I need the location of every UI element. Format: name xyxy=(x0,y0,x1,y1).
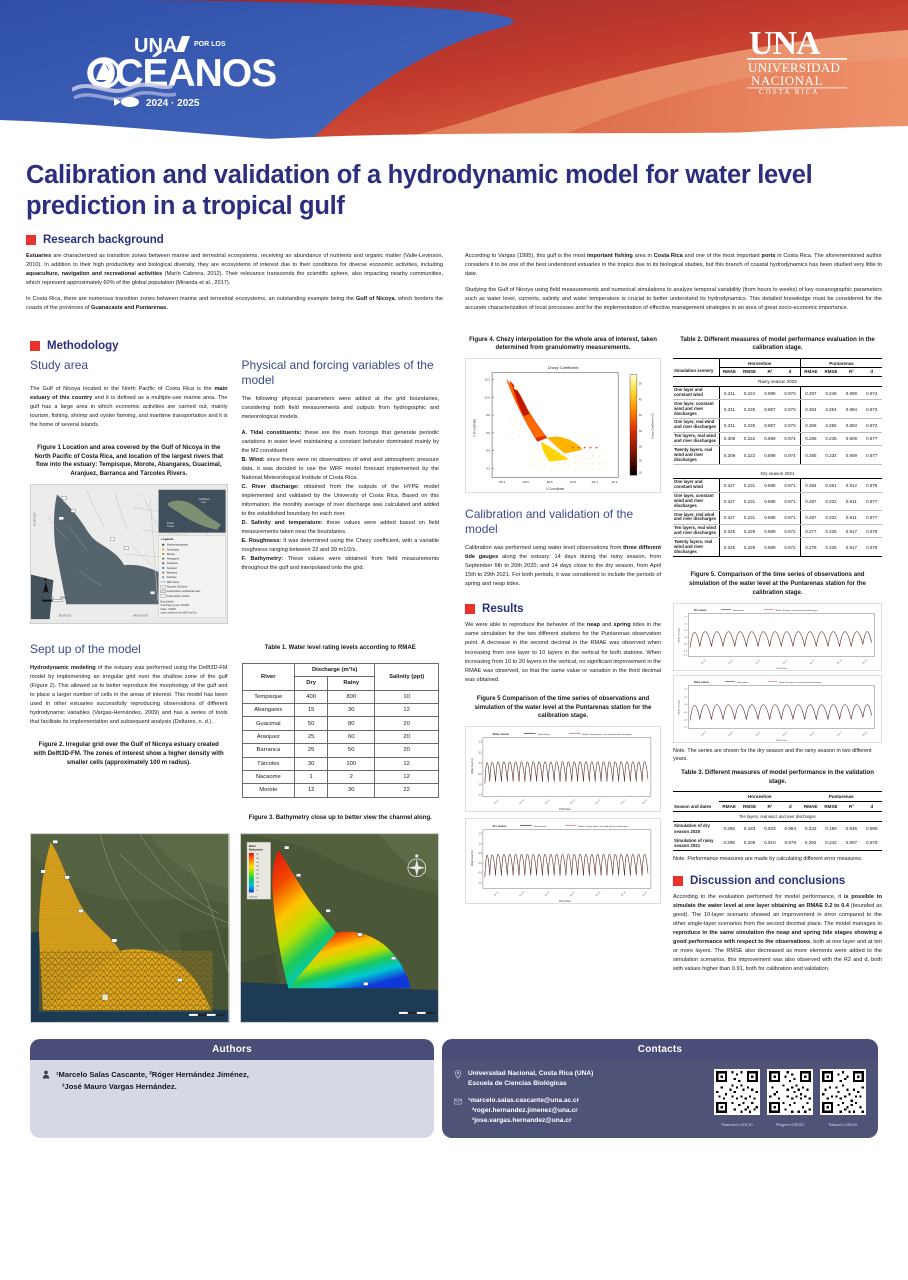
subheading-physical-variables: Physical and forcing variables of the mo… xyxy=(242,358,440,388)
t2-cell: 0.911 xyxy=(841,511,861,525)
physical-var-item-a: A. Tidal constituents: these are the mai… xyxy=(242,429,440,456)
research-background-col-1: Estuaries are characterized as transitio… xyxy=(26,252,443,320)
section-header-research-background: Research background xyxy=(26,234,882,246)
figure4-caption: Figure 4. Chezy interpolation for the wh… xyxy=(467,336,659,354)
svg-text:-85.0: -85.0 xyxy=(522,480,529,484)
right-subcol-a: Figure 4. Chezy interpolation for the wh… xyxy=(465,330,661,982)
oceanos-logo-art: UNA POR LOS OCÉANOS 2024 · 2025 xyxy=(72,28,302,114)
t2-row-label: Twenty layers, real wind and river disch… xyxy=(673,446,719,465)
affiliation-block: Universidad Nacional, Costa Rica (UNA) E… xyxy=(454,1069,704,1089)
table2-season-rainy: Rainy season 2020 xyxy=(673,376,882,386)
t3-cell: 0.985 xyxy=(862,821,882,836)
svg-text:Tárcoles: Tárcoles xyxy=(167,576,177,579)
t2-cell: 0.972 xyxy=(780,538,800,557)
t3-group-puntarenas: Puntarenas xyxy=(800,792,882,802)
physical-var-item-d: D. Salinity and temperature: these value… xyxy=(242,519,440,537)
f5b-legend-obs: Observations xyxy=(538,733,551,736)
t3-cell: 0.979 xyxy=(780,836,800,851)
t2-m-rmse-h: RMSE xyxy=(739,367,759,376)
table-row: Simulation of dry season 2020 0.2550.183… xyxy=(673,821,882,836)
svg-text:35: 35 xyxy=(639,429,643,433)
t2-cell: 0.897 xyxy=(760,400,780,419)
t3-cell: 0.910 xyxy=(760,836,780,851)
bg-lead-estuaries: Estuaries xyxy=(26,253,51,259)
discussion-paragraph: According to the evaluation performed fo… xyxy=(673,893,882,974)
physical-var-item-c: C. River discharge: obtained from the ou… xyxy=(242,483,440,519)
svg-text:Barranca: Barranca xyxy=(167,572,178,575)
svg-text:Tempisque: Tempisque xyxy=(167,548,180,551)
t3-m-rmse-h: RMSE xyxy=(739,801,759,811)
background-paragraph-2: In Costa Rica, there are numerous transi… xyxy=(26,295,443,313)
bg-p1-text: are characterized as transition zones be… xyxy=(26,253,443,268)
t2-cell: 0.973 xyxy=(780,400,800,419)
section-title-discussion: Discussion and conclusions xyxy=(690,875,845,887)
t2-cell: 0.909 xyxy=(841,446,861,465)
t1-rainy: 2 xyxy=(328,770,375,783)
svg-text:9.4: 9.4 xyxy=(486,449,490,453)
table-row: One layer, real wind and river discharge… xyxy=(673,418,882,432)
t3-cell: 0.907 xyxy=(841,836,861,851)
study-area-paragraph: The Gulf of Nicoya located in the North … xyxy=(30,385,228,430)
t1-rainy: 30 xyxy=(328,704,375,717)
email-1[interactable]: ¹marcelo.salas.cascante@una.ac.cr xyxy=(468,1096,579,1106)
t1-dry: 30 xyxy=(295,757,328,770)
figure5-top-rainy-chart: Rainy season Observations Model: Ten lay… xyxy=(673,675,882,743)
t2-cell: 0.235 xyxy=(821,432,841,446)
authors-heading: Authors xyxy=(30,1039,434,1060)
right-subcol-b: Table 2. Different measures of model per… xyxy=(673,330,882,982)
t2-group-horseshoe: Horseshoe xyxy=(719,359,800,368)
f5d-legend-model: Model: Ten layers, real wind and river d… xyxy=(779,681,821,683)
svg-text:Monitoring stations: Monitoring stations xyxy=(167,544,189,547)
subheading-calibration: Calibration and validation of the model xyxy=(465,507,661,537)
t2-cell: 0.325 xyxy=(719,538,739,557)
f5c-legend-model: Model: Twenty layers, real wind and rive… xyxy=(579,825,628,828)
setup-text: of the estuary was performed using the D… xyxy=(30,665,228,725)
t2-cell: 0.971 xyxy=(780,478,800,492)
res-a: We were able to reproduce the behavior o… xyxy=(465,622,587,628)
table-row: Simulation of rainy season 2021 0.2950.2… xyxy=(673,836,882,851)
f5b-ylabel: Water level (m) xyxy=(471,758,474,774)
study-area-column: Study area The Gulf of Nicoya located in… xyxy=(30,358,228,625)
t2-cell: 0.909 xyxy=(841,432,861,446)
t2-row-label: One layer, constant wind and river disch… xyxy=(673,400,719,419)
t2-cell: 0.974 xyxy=(862,386,882,400)
svg-text:20: 20 xyxy=(639,470,643,474)
t2-cell: 0.974 xyxy=(780,432,800,446)
svg-text:Nicoya's Gulf area: Nicoya's Gulf area xyxy=(167,586,188,589)
svg-text:45: 45 xyxy=(639,398,643,402)
section-title-research-background: Research background xyxy=(43,234,164,246)
t3-m-d-p: d xyxy=(862,801,882,811)
t2-season2: Dry season 2021 xyxy=(673,464,882,478)
svg-text:-84.2: -84.2 xyxy=(611,480,618,484)
t1-river: Tempisque xyxy=(242,690,295,703)
fig1-xtick-2: 84°42'00.000" xyxy=(133,614,148,617)
t2-row-label: Twenty layers, real wind and river disch… xyxy=(673,538,719,557)
t2-cell: 0.285 xyxy=(800,446,820,465)
figure4-cbar-label: Chezy Coefficient (C) xyxy=(651,413,655,439)
bg-p3-b1: important fishing xyxy=(587,253,633,259)
t2-cell: 0.971 xyxy=(780,492,800,511)
table-row: One layer, constant wind and river disch… xyxy=(673,400,882,419)
qr-code-icon[interactable] xyxy=(820,1069,866,1115)
bg-p3-b3: ports xyxy=(762,253,776,259)
t2-cell: 0.899 xyxy=(760,432,780,446)
setup-column: Sept up of the model Hydrodynamic modeli… xyxy=(30,642,228,827)
table-row: Tempisque40080010 xyxy=(242,690,439,703)
f5c-legend-obs: Observations xyxy=(534,825,547,828)
table-row: Ten layers, real wind and river discharg… xyxy=(673,432,882,446)
f5a-legend-season: Dry season xyxy=(694,609,707,611)
affiliation-line-2: Escuela de Ciencias Biológicas xyxy=(468,1079,593,1089)
f5b-xlabel: 2020 Dates xyxy=(559,808,572,811)
t2-cell: 0.888 xyxy=(760,478,780,492)
table1: River Discharge (m³/s) Salinity (ppt) Dr… xyxy=(242,663,440,798)
res-c: tides in the same simulation for the two… xyxy=(465,622,661,682)
t2-cell: 0.309 xyxy=(719,432,739,446)
f5a-legend-obs: Observations xyxy=(733,608,744,611)
t2-cell: 0.224 xyxy=(739,386,759,400)
figure3-bathymetry-art: Water Bathymetry -50-45-40 -35-30-25 -20… xyxy=(241,834,439,1022)
f5b-legend-model: Model: Twenty layers, real wind and rive… xyxy=(583,733,632,736)
t2-cell: 0.232 xyxy=(821,492,841,511)
t2-cell: 0.889 xyxy=(760,538,780,557)
t2-cell: 0.225 xyxy=(739,418,759,432)
t2-cell: 0.974 xyxy=(780,446,800,465)
figure1-map-art: 10°30'0.000" 9°50'0.000" 85°30'0.00" 84°… xyxy=(31,485,227,623)
fig1-ytick-1: 10°30'0.000" xyxy=(34,512,37,526)
t2-cell: 0.979 xyxy=(862,538,882,557)
table-row: Abangares153012 xyxy=(242,704,439,717)
fig3-legend-sub: Bathymetry xyxy=(248,848,263,852)
background-paragraph-4: Studying the Gulf of Nicoya using field … xyxy=(465,286,882,313)
contacts-heading: Contacts xyxy=(442,1039,878,1060)
table3: Season and dates Horseshoe Puntarenas RM… xyxy=(673,791,882,851)
background-paragraph-3: According to Vargas (1995), this gulf is… xyxy=(465,252,882,279)
t2-m-rmae-p: RMAE xyxy=(800,367,820,376)
t2-row-label: One layer, real wind and river discharge… xyxy=(673,418,719,432)
svg-text:9.6: 9.6 xyxy=(486,431,490,435)
t2-cell: 0.898 xyxy=(760,386,780,400)
authors-body: ¹Marcelo Salas Cascante, ²Róger Hernánde… xyxy=(30,1060,434,1138)
table1-th-river: River xyxy=(242,663,295,690)
figure2-grid-image xyxy=(30,833,230,1023)
t2-cell: 0.912 xyxy=(841,478,861,492)
svg-text:Costa Rica's contour: Costa Rica's contour xyxy=(167,595,190,598)
t3-m-rmae-h: RMAE xyxy=(719,801,739,811)
figure3-scalebar xyxy=(399,1012,435,1014)
figure5-top-rainy-art: Rainy season Observations Model: Ten lay… xyxy=(674,676,881,742)
t2-cell: 0.254 xyxy=(821,400,841,419)
svg-text:25: 25 xyxy=(639,459,643,463)
svg-text:Layers retrieved from SNIT and: Layers retrieved from SNIT and Tec. xyxy=(160,612,197,615)
figure5-top-dry-chart: Dry season Observations Model: Ten layer… xyxy=(673,603,882,671)
t2-cell: 0.917 xyxy=(841,538,861,557)
t2-cell: 0.325 xyxy=(719,524,739,538)
t2-cell: 0.225 xyxy=(821,538,841,557)
t2-cell: 0.287 xyxy=(800,492,820,511)
section-bullet-icon xyxy=(30,341,40,351)
t2-row-label: One layer, real wind and river discharge… xyxy=(673,511,719,525)
una-costarica: COSTA RICA xyxy=(759,88,819,96)
una-nacional: NACIONAL xyxy=(751,73,823,88)
t2-cell: 0.977 xyxy=(862,492,882,511)
envelope-icon xyxy=(454,1097,462,1106)
t2-cell: 0.285 xyxy=(800,432,820,446)
t2-group-puntarenas: Puntarenas xyxy=(800,359,882,368)
fig3-legend-footer: City limit xyxy=(248,896,257,899)
t2-cell: 0.327 xyxy=(719,492,739,511)
qr-marcelo[interactable]: ¹Marcelo's ORCID xyxy=(714,1069,760,1127)
t2-row-label: One layer, constant wind and river disch… xyxy=(673,492,719,511)
qr-caption-mauro: ³Mauro's ORCID xyxy=(820,1122,866,1127)
svg-text:-1.5: -1.5 xyxy=(478,795,483,797)
t2-cell: 0.231 xyxy=(739,511,759,525)
t3-cell: 0.242 xyxy=(821,836,841,851)
t2-cell: 0.251 xyxy=(821,478,841,492)
figure1-caption: Figure 1 Location and area covered by th… xyxy=(32,444,226,479)
t2-cell: 0.231 xyxy=(739,492,759,511)
t2-cell: 0.222 xyxy=(739,432,759,446)
pv-key-a: A. Tidal constituents: xyxy=(242,430,302,436)
f5d-legend-obs: Observations xyxy=(737,680,748,683)
pv-key-b: B. Wind: xyxy=(242,457,265,463)
t1-rainy: 80 xyxy=(328,717,375,730)
svg-text:-1.0: -1.0 xyxy=(478,883,483,885)
qr-mauro[interactable]: ³Mauro's ORCID xyxy=(820,1069,866,1127)
table1-th-salinity: Salinity (ppt) xyxy=(375,663,439,690)
t3-m-d-h: d xyxy=(780,801,800,811)
f5d-legend-season: Rainy season xyxy=(694,681,709,683)
table-row: One layer, constant wind and river disch… xyxy=(673,492,882,511)
t2-cell: 0.231 xyxy=(739,478,759,492)
sa-a: The Gulf of Nicoya located in the North … xyxy=(30,386,214,392)
t2-cell: 0.917 xyxy=(841,524,861,538)
email-3[interactable]: ³jose.vargas.hernandez@una.cr xyxy=(468,1116,579,1126)
t2-cell: 0.897 xyxy=(760,418,780,432)
figure4-chezy-plot: Chezy Coefficient xyxy=(465,358,661,493)
t1-sal: 20 xyxy=(375,744,439,757)
t1-river: Abangares xyxy=(242,704,295,717)
una-logo-art: UNA UNIVERSIDAD NACIONAL COSTA RICA xyxy=(743,22,853,97)
physical-var-item-f: F. Bathymetry: These values were obtaine… xyxy=(242,555,440,573)
t2-cell: 0.278 xyxy=(800,538,820,557)
figure2-caption: Figure 2. Irregular grid over the Gulf o… xyxy=(32,741,226,767)
t1-dry: 50 xyxy=(295,717,328,730)
t3-col0: Season and dates xyxy=(673,792,719,811)
t2-row-label: Ten layers, real wind and river discharg… xyxy=(673,524,719,538)
figure5-rainy-chart: Rainy season Observations Model: Twenty … xyxy=(465,726,661,812)
methodology-panel: Methodology Study area The Gulf of Nicoy… xyxy=(18,330,451,1034)
f5a-legend-model: Model: Ten layers, real wind and river d… xyxy=(776,609,818,611)
t3-row-label: Simulation of rainy season 2021 xyxy=(673,836,719,851)
svg-text:-84.8: -84.8 xyxy=(546,480,553,484)
table1-caption: Table 1. Water level rating levels accor… xyxy=(242,644,440,653)
t2-cell: 0.889 xyxy=(760,524,780,538)
table-row: Barranca255020 xyxy=(242,744,439,757)
t2-cell: 0.972 xyxy=(862,418,882,432)
svg-text:Morote: Morote xyxy=(167,553,175,556)
oceanos-logo: UNA POR LOS OCÉANOS 2024 · 2025 xyxy=(72,28,302,114)
f5d-xlabel: 2020 Dates xyxy=(776,739,787,742)
table3-caption: Table 3. Different measures of model per… xyxy=(675,769,880,787)
svg-text:10.0: 10.0 xyxy=(484,396,490,400)
figure5-dry-art: Dry season Observations Model: Twenty la… xyxy=(466,819,660,903)
t1-sal: 12 xyxy=(375,757,439,770)
bg-p2-a: In Costa Rica, there are numerous transi… xyxy=(26,296,356,302)
svg-text:40: 40 xyxy=(639,413,643,417)
t1-rainy: 30 xyxy=(328,784,375,797)
t1-sal: 22 xyxy=(375,784,439,797)
t2-cell: 0.255 xyxy=(821,418,841,432)
figure2-grid-art xyxy=(31,834,229,1022)
section-title-results: Results xyxy=(482,603,524,615)
f5c-ylabel: Water level (m) xyxy=(471,850,474,866)
t2-cell: 0.234 xyxy=(821,446,841,465)
calibration-paragraph: Calibration was performed using water le… xyxy=(465,544,661,589)
t3-cell: 0.208 xyxy=(739,836,759,851)
inset-pacific-label2: Ocean xyxy=(167,525,175,528)
t2-cell: 0.311 xyxy=(719,400,739,419)
t1-river: Nacaome xyxy=(242,770,295,783)
results-column: Figure 4. Chezy interpolation for the wh… xyxy=(457,330,890,982)
t1-river: Aranjuez xyxy=(242,730,295,743)
t1-dry: 25 xyxy=(295,730,328,743)
section-header-discussion: Discussion and conclusions xyxy=(673,875,882,887)
table-row: Twenty layers, real wind and river disch… xyxy=(673,538,882,557)
table1-column: Table 1. Water level rating levels accor… xyxy=(242,642,440,827)
t3-cell: 0.255 xyxy=(719,821,739,836)
t2-m-d-p: d xyxy=(862,367,882,376)
table-row: One layer and constant wind 0.3110.2240.… xyxy=(673,386,882,400)
cal-a: Calibration was performed using water le… xyxy=(465,545,623,551)
location-pin-icon xyxy=(454,1070,462,1079)
t3-cell: 0.295 xyxy=(719,836,739,851)
figure1-legend-title: Legends xyxy=(161,537,174,541)
t1-dry: 1 xyxy=(295,770,328,783)
table1-th-discharge: Discharge (m³/s) xyxy=(295,663,375,676)
t2-m-r2-p: R² xyxy=(841,367,861,376)
section-bullet-icon xyxy=(26,235,36,245)
t2-cell: 0.297 xyxy=(800,386,820,400)
authors-card: Authors ¹Marcelo Salas Cascante, ²Róger … xyxy=(30,1039,434,1138)
setup-paragraph: Hydrodynamic modeling of the estuary was… xyxy=(30,664,228,727)
subheading-setup-model: Sept up of the model xyxy=(30,642,228,657)
table1-th-dry: Dry xyxy=(295,677,328,690)
bg-p3-a: According to Vargas (1995), this gulf is… xyxy=(465,253,587,259)
t2-cell: 0.229 xyxy=(739,524,759,538)
author-line-1: ¹Marcelo Salas Cascante, ²Róger Hernánde… xyxy=(56,1069,249,1081)
una-acronym: UNA xyxy=(749,25,821,62)
setup-bold: Hydrodynamic modeling xyxy=(30,665,96,671)
research-background-col-2: According to Vargas (1995), this gulf is… xyxy=(465,252,882,320)
una-university-logo: UNA UNIVERSIDAD NACIONAL COSTA RICA xyxy=(743,22,853,97)
t2-cell: 0.311 xyxy=(719,418,739,432)
pv-key-c: C. River discharge: xyxy=(242,484,299,490)
figure5-caption-mid: Figure 5 Comparison of the time series o… xyxy=(467,695,659,721)
t3-m-rmse-p: RMSE xyxy=(821,801,841,811)
qr-caption-marcelo: ¹Marcelo's ORCID xyxy=(714,1122,760,1127)
svg-text:15 Km: 15 Km xyxy=(60,598,67,600)
affiliation-line-1: Universidad Nacional, Costa Rica (UNA) xyxy=(468,1069,593,1079)
qr-roger[interactable]: ²Roger's ORCID xyxy=(767,1069,813,1127)
t2-cell: 0.327 xyxy=(719,511,739,525)
person-icon xyxy=(42,1070,50,1079)
t2-cell: 0.304 xyxy=(800,400,820,419)
table2: Simulation scenery Horseshoe Puntarenas … xyxy=(673,358,882,557)
table2-season-dry: Dry season 2021 xyxy=(673,464,882,478)
t3-m-r2-h: R² xyxy=(760,801,780,811)
t2-cell: 0.977 xyxy=(862,511,882,525)
t1-dry: 400 xyxy=(295,690,328,703)
bg-p3-b2: Costa Rica xyxy=(654,253,683,259)
t1-river: Guacimal xyxy=(242,717,295,730)
table-row: Twenty layers, real wind and river disch… xyxy=(673,446,882,465)
svg-text:Guacimal: Guacimal xyxy=(167,562,178,565)
svg-text:-84.4: -84.4 xyxy=(591,480,598,484)
t3-row-label: Simulation of dry season 2020 xyxy=(673,821,719,836)
section-header-methodology: Methodology xyxy=(30,340,439,352)
t2-cell: 0.225 xyxy=(821,524,841,538)
svg-text:Abangares: Abangares xyxy=(167,558,180,561)
qr-code-icon[interactable] xyxy=(714,1069,760,1115)
table1-th-rainy: Rainy xyxy=(328,677,375,690)
poster-banner: UNA POR LOS OCÉANOS 2024 · 2025 UNA UNIV… xyxy=(0,0,908,152)
svg-text:10.2: 10.2 xyxy=(484,378,490,382)
table-row: Ten layers, real wind and river discharg… xyxy=(673,524,882,538)
section-header-results: Results xyxy=(465,603,661,615)
logo-porlos-text: POR LOS xyxy=(194,41,226,48)
t3-cell: 0.190 xyxy=(821,821,841,836)
table-row: Guacimal508020 xyxy=(242,717,439,730)
t1-dry: 25 xyxy=(295,744,328,757)
t2-cell: 0.911 xyxy=(841,492,861,511)
table3-scenario-row: Ten layers, real wind, and river dischar… xyxy=(673,811,882,821)
pv-text-b: since there were no observations of wind… xyxy=(242,457,440,481)
authors-list: ¹Marcelo Salas Cascante, ²Róger Hernánde… xyxy=(42,1069,422,1093)
figure3-bathymetry-image: Water Bathymetry -50-45-40 -35-30-25 -20… xyxy=(240,833,440,1023)
t2-cell: 0.225 xyxy=(739,400,759,419)
fig3-legend-title: Water xyxy=(248,844,255,848)
qr-code-icon[interactable] xyxy=(767,1069,813,1115)
figure5-top-dry-art: Dry season Observations Model: Ten layer… xyxy=(674,604,881,670)
svg-text:-1.0: -1.0 xyxy=(478,785,483,787)
section-bullet-icon xyxy=(465,604,475,614)
pv-key-f: F. Bathymetry: xyxy=(242,556,284,562)
t2-cell: 0.977 xyxy=(862,432,882,446)
physical-var-item-b: B. Wind: since there were no observation… xyxy=(242,456,440,483)
t3-group-horseshoe: Horseshoe xyxy=(719,792,800,802)
table3-note: Note. Performance measures are made by c… xyxy=(673,855,882,863)
figure5-note: Note. The series are shown for the dry s… xyxy=(673,747,882,763)
t2-cell: 0.977 xyxy=(862,446,882,465)
svg-text:Coordinate system: WGS84: Coordinate system: WGS84 xyxy=(160,604,189,607)
t1-river: Barranca xyxy=(242,744,295,757)
svg-text:9.2: 9.2 xyxy=(486,466,490,470)
figure5-dry-chart: Dry season Observations Model: Twenty la… xyxy=(465,818,661,904)
email-2[interactable]: ²roger.hernandez.jimenez@una.cr xyxy=(468,1106,579,1116)
table2-caption: Table 2. Different measures of model per… xyxy=(675,336,880,354)
t3-scenario: Ten layers, real wind, and river dischar… xyxy=(673,811,882,821)
table-row: One layer, real wind and river discharge… xyxy=(673,511,882,525)
background-paragraph-1: Estuaries are characterized as transitio… xyxy=(26,252,443,288)
t2-cell: 0.973 xyxy=(862,400,882,419)
t2-cell: 0.979 xyxy=(862,524,882,538)
t2-cell: 0.893 xyxy=(841,418,861,432)
section-bullet-icon xyxy=(673,876,683,886)
svg-text:Bing Satellite: Bing Satellite xyxy=(160,600,174,603)
